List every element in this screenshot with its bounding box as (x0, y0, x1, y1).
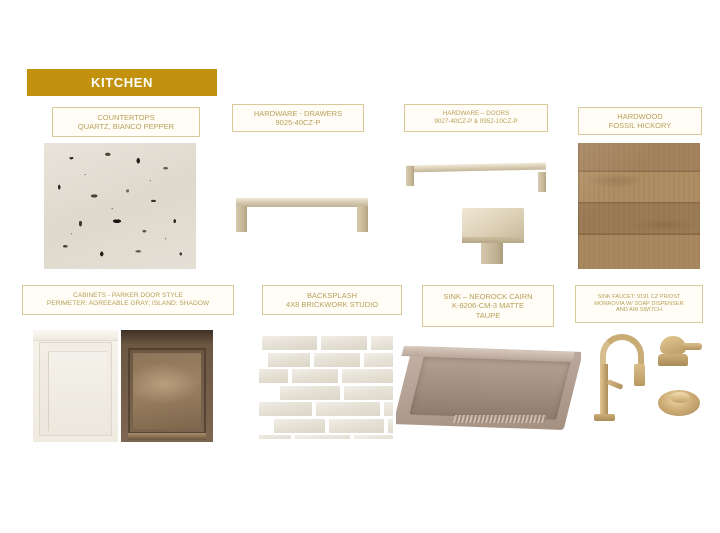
label-line: HARDWARE – DOORS (443, 110, 510, 118)
cabinet-dark-top-rail (121, 330, 213, 344)
brick-tile (370, 335, 394, 351)
label-backsplash: BACKSPLASH 4X8 BRICKWORK STUDIO (262, 285, 402, 315)
brick-tile (259, 434, 292, 439)
brick-tile (313, 352, 362, 368)
sink-basin (409, 354, 571, 419)
faucet-base (594, 414, 615, 421)
swatch-square-knob (458, 206, 528, 266)
brick-row (259, 418, 393, 434)
brick-tile (267, 352, 311, 368)
section-banner-label: KITCHEN (91, 75, 153, 90)
label-line: HARDWARE - DRAWERS (254, 109, 342, 118)
brick-row (259, 385, 393, 401)
brick-tile (383, 401, 394, 417)
label-hardware-drawers: HARDWARE - DRAWERS 9025-40CZ-P (232, 104, 364, 132)
label-line: PERIMETER: AGREEABLE GRAY; ISLAND: SHADO… (47, 300, 209, 308)
faucet-handle (607, 379, 624, 390)
brick-tile (320, 335, 369, 351)
swatch-backsplash-tile (259, 333, 393, 439)
faucet-spout (600, 334, 644, 368)
knob-stem (481, 243, 503, 264)
brick-tile (353, 434, 394, 439)
brick-tile (273, 418, 326, 434)
label-line: COUNTERTOPS (97, 113, 154, 122)
brick-row (259, 352, 393, 368)
swatch-door-bar-pull (400, 150, 552, 200)
brick-row (259, 401, 393, 417)
label-line: SINK – NEOROCK CAIRN (443, 292, 532, 301)
swatch-cabinet-door-perimeter (33, 330, 118, 442)
brick-row (259, 434, 393, 439)
soap-dispenser-spout (682, 343, 702, 350)
label-line: HARDWOOD (617, 112, 662, 121)
cabinet-dark-base-rail (128, 433, 206, 440)
label-hardwood: HARDWOOD FOSSIL HICKORY (578, 107, 702, 135)
air-switch-cap (670, 392, 690, 403)
brick-tile (363, 352, 394, 368)
label-line: SINK FAUCET: 9191 CZ PR/DST (598, 294, 681, 301)
cabinet-frame (39, 342, 112, 436)
label-cabinets: CABINETS - PARKER DOOR STYLE PERIMETER: … (22, 285, 234, 315)
swatch-kitchen-sink (396, 337, 581, 439)
section-banner-kitchen: KITCHEN (27, 69, 217, 96)
swatch-hardwood-planks (578, 143, 700, 269)
brick-tile (291, 368, 340, 384)
label-hardware-doors: HARDWARE – DOORS 9027-40CZ-P & 0952-10CZ… (404, 104, 548, 132)
swatch-countertop-quartz (44, 143, 196, 269)
faucet-column (600, 364, 608, 416)
brick-tile (341, 368, 394, 384)
long-bar-pull-body (406, 163, 546, 173)
cabinet-inner-panel (48, 351, 107, 431)
bar-pull-leg-right (357, 206, 368, 232)
sink-drain-grid (453, 415, 547, 423)
label-sink: SINK – NEOROCK CAIRN K-8206-CM-3 MATTE T… (422, 285, 554, 327)
label-line: QUARTZ, BIANCO PEPPER (78, 122, 174, 131)
brick-tile (259, 368, 289, 384)
brick-tile (279, 385, 341, 401)
cabinet-dark-inner-panel (133, 353, 201, 429)
label-line: 4X8 BRICKWORK STUDIO (286, 300, 378, 309)
brick-row (259, 335, 393, 351)
faucet-sprayer-head (634, 364, 645, 386)
cabinet-top-rail (33, 330, 118, 341)
brick-tile (387, 418, 394, 434)
label-line: BACKSPLASH (307, 291, 357, 300)
brick-tile (261, 335, 319, 351)
knob-top-face (462, 208, 524, 238)
brick-tile (294, 434, 352, 439)
long-bar-pull-leg-right (538, 172, 546, 192)
label-line: K-8206-CM-3 MATTE (452, 301, 524, 310)
label-sink-faucet: SINK FAUCET: 9191 CZ PR/DST MONROVIA W/ … (575, 285, 703, 323)
swatch-drawer-bar-pull (228, 168, 378, 252)
bar-pull-leg-left (236, 206, 247, 232)
label-line: 9027-40CZ-P & 0952-10CZ-P (434, 118, 517, 126)
label-line: CABINETS - PARKER DOOR STYLE (73, 292, 183, 300)
swatch-faucet-group (586, 330, 704, 442)
swatch-cabinet-door-island (121, 330, 213, 442)
label-line: 9025-40CZ-P (275, 118, 320, 127)
label-countertops: COUNTERTOPS QUARTZ, BIANCO PEPPER (52, 107, 200, 137)
cabinet-dark-frame (128, 348, 206, 434)
soap-dispenser-base (658, 354, 688, 366)
label-line: MONROVIA W/ SOAP DISPENSER (594, 301, 683, 308)
brick-tile (328, 418, 386, 434)
label-line: AND AIR SWITCH (616, 307, 662, 314)
long-bar-pull-leg-left (406, 166, 414, 186)
brick-row (259, 368, 393, 384)
bar-pull-body (236, 198, 368, 207)
kitchen-materials-board: KITCHEN COUNTERTOPS QUARTZ, BIANCO PEPPE… (0, 0, 720, 533)
brick-tile (343, 385, 394, 401)
label-line: FOSSIL HICKORY (609, 121, 672, 130)
brick-tile (259, 401, 313, 417)
label-line: TAUPE (476, 311, 500, 320)
brick-tile (315, 401, 382, 417)
